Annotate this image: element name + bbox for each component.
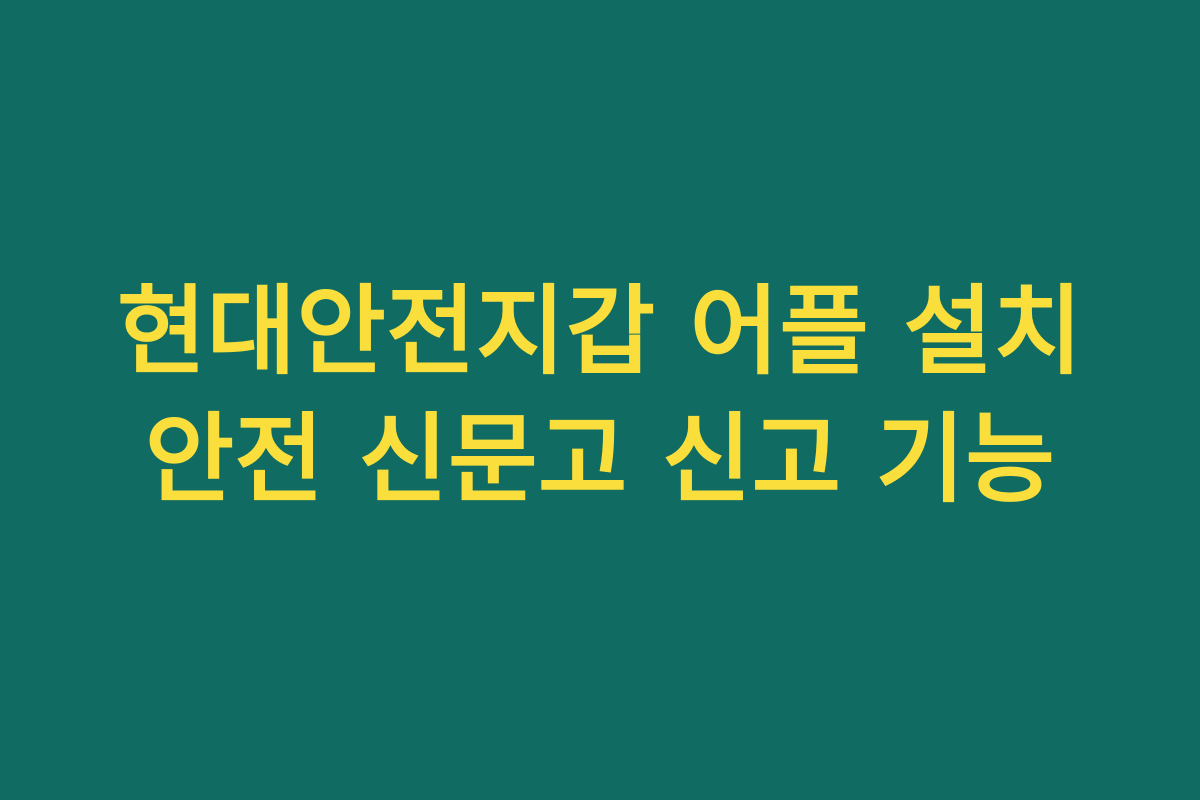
banner-canvas: 현대안전지갑 어플 설치 안전 신문고 신고 기능 [0, 0, 1200, 800]
headline-block: 현대안전지갑 어플 설치 안전 신문고 신고 기능 [0, 268, 1200, 524]
headline-line-2: 안전 신문고 신고 기능 [0, 396, 1200, 524]
headline-line-1: 현대안전지갑 어플 설치 [0, 268, 1200, 396]
